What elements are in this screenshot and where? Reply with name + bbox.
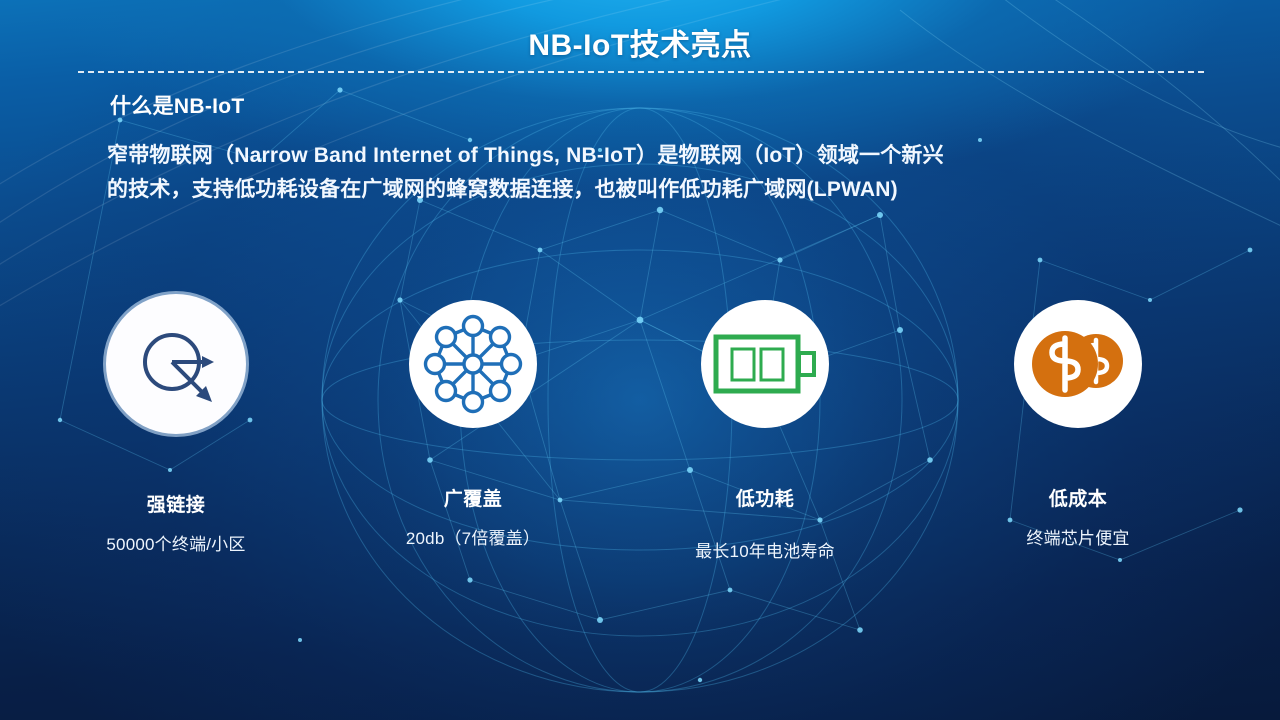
- header-divider: [78, 71, 1204, 73]
- feature-label: 低功耗: [650, 484, 880, 511]
- battery-icon: [713, 329, 817, 399]
- feature-item-low-cost[interactable]: 低成本 终端芯片便宜: [963, 300, 1193, 549]
- feature-icon-circle: [701, 300, 829, 428]
- feature-label: 广覆盖: [358, 484, 588, 511]
- feature-item-wide-coverage[interactable]: 广覆盖 20db（7倍覆盖）: [358, 300, 588, 549]
- feature-description: 最长10年电池寿命: [650, 537, 880, 562]
- page-title: NB-IoT技术亮点: [0, 20, 1280, 64]
- feature-label: 强链接: [61, 490, 291, 517]
- intro-paragraph-line-2: 的技术，支持低功耗设备在广域网的蜂窝数据连接，也被叫作低功耗广域网(LPWAN): [107, 173, 1197, 207]
- feature-description: 50000个终端/小区: [61, 530, 291, 555]
- feature-description: 20db（7倍覆盖）: [358, 524, 588, 549]
- feature-item-strong-connection[interactable]: 强链接 50000个终端/小区: [61, 300, 291, 555]
- feature-icon-circle: [106, 294, 246, 434]
- feature-label: 低成本: [963, 484, 1193, 511]
- intro-paragraph: 窄带物联网（Narrow Band Internet of Things, NB…: [107, 139, 1197, 207]
- feature-description: 终端芯片便宜: [963, 524, 1193, 549]
- clock-coverage-icon: [132, 320, 220, 408]
- dollar-coins-icon: [1026, 319, 1130, 409]
- intro-paragraph-line-1: 窄带物联网（Narrow Band Internet of Things, NB…: [107, 139, 1197, 173]
- feature-item-low-power[interactable]: 低功耗 最长10年电池寿命: [650, 300, 880, 562]
- section-subtitle: 什么是NB-IoT: [110, 90, 245, 120]
- slide: NB-IoT技术亮点 什么是NB-IoT 窄带物联网（Narrow Band I…: [0, 0, 1280, 720]
- feature-icon-circle: [1014, 300, 1142, 428]
- feature-icon-circle: [409, 300, 537, 428]
- network-nodes-icon: [421, 312, 525, 416]
